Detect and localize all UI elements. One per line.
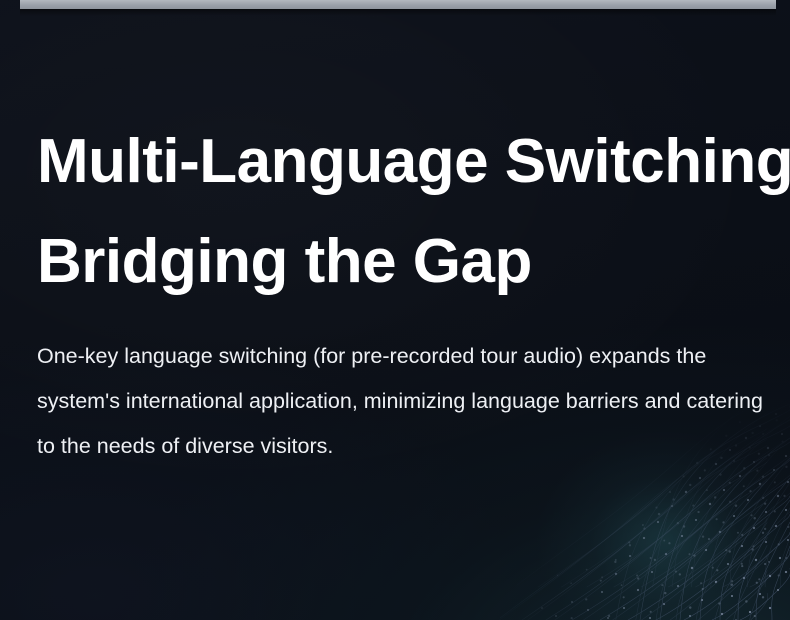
headline-line-2: Bridging the Gap (37, 212, 763, 312)
headline-line-1: Multi-Language Switching (37, 112, 763, 212)
page-title: Multi-Language Switching Bridging the Ga… (37, 112, 763, 312)
page-top-strip (20, 0, 776, 9)
hero-section: Multi-Language Switching Bridging the Ga… (0, 0, 790, 620)
hero-description: One-key language switching (for pre-reco… (37, 312, 763, 469)
hero-content: Multi-Language Switching Bridging the Ga… (37, 112, 763, 469)
